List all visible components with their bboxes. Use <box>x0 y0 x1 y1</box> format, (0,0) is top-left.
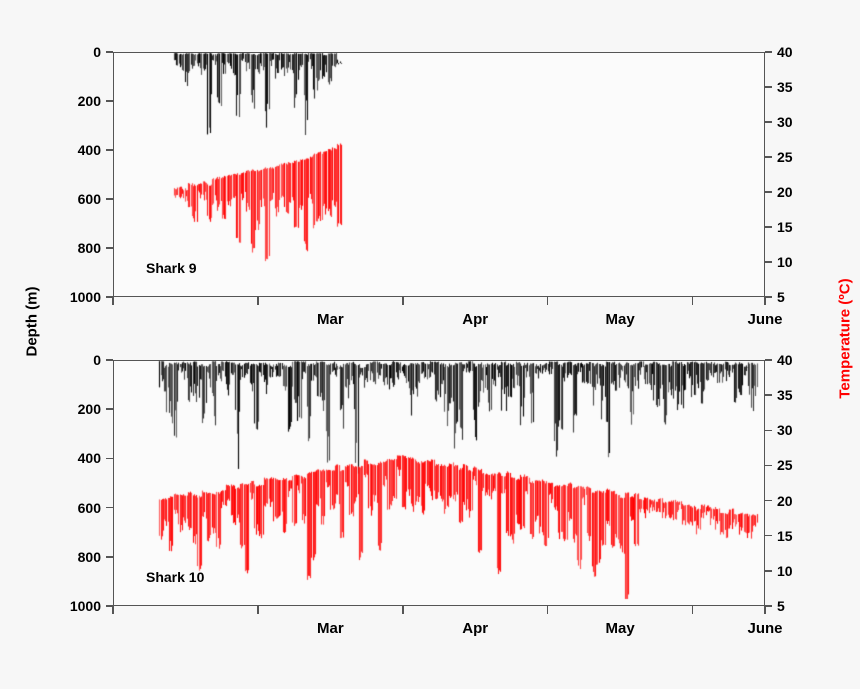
series-plot-bottom <box>0 0 860 689</box>
figure-root: Depth (m) Temperature (ºC) 0200400600800… <box>0 0 860 689</box>
